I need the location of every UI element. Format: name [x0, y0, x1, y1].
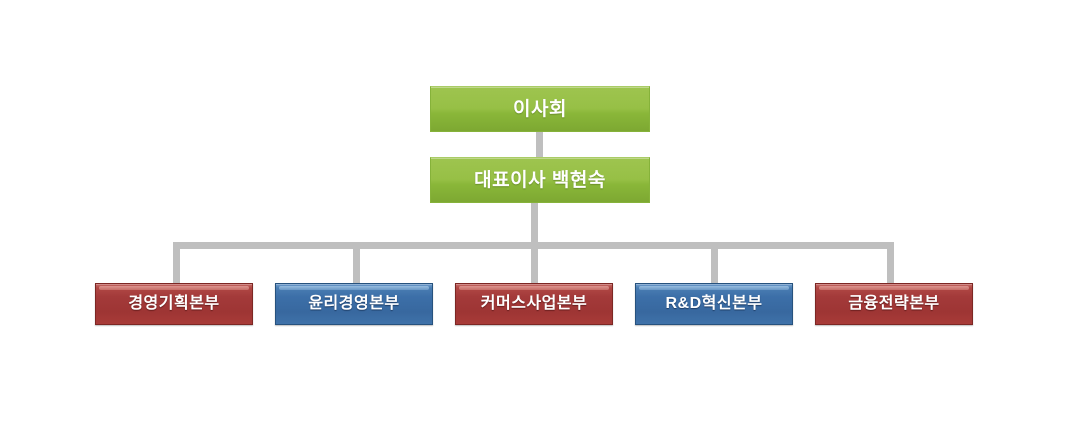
connector-drop-div2: [353, 242, 360, 284]
org-chart-canvas: 이사회 대표이사 백현숙 경영기획본부 윤리경영본부 커머스사업본부 R&D혁신…: [0, 0, 1074, 433]
org-node-board[interactable]: 이사회: [430, 86, 650, 132]
org-node-division-4-label: R&D혁신본부: [665, 296, 762, 312]
org-node-division-5[interactable]: 금융전략본부: [815, 283, 973, 325]
connector-drop-div1: [173, 242, 180, 284]
connector-horizontal-bus: [173, 242, 894, 249]
org-node-division-5-label: 금융전략본부: [848, 296, 939, 312]
org-node-division-2[interactable]: 윤리경영본부: [275, 283, 433, 325]
org-node-division-1-label: 경영기획본부: [128, 296, 219, 312]
org-node-division-4[interactable]: R&D혁신본부: [635, 283, 793, 325]
org-node-division-3-label: 커머스사업본부: [481, 296, 588, 312]
org-node-division-3[interactable]: 커머스사업본부: [455, 283, 613, 325]
connector-board-to-ceo: [536, 131, 543, 158]
org-node-division-2-label: 윤리경영본부: [308, 296, 399, 312]
org-node-board-label: 이사회: [513, 100, 567, 119]
org-node-ceo[interactable]: 대표이사 백현숙: [430, 157, 650, 203]
connector-drop-div5: [887, 242, 894, 284]
org-node-ceo-label: 대표이사 백현숙: [474, 171, 606, 190]
connector-drop-div4: [711, 242, 718, 284]
org-node-division-1[interactable]: 경영기획본부: [95, 283, 253, 325]
